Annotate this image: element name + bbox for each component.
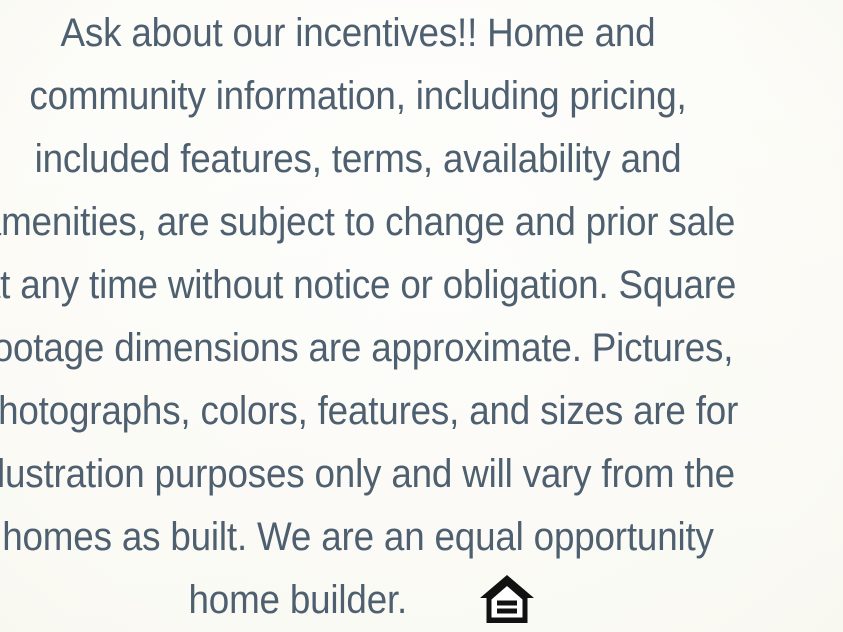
last-line-row: home builder. EQUAL HOUSING OPPORTUNITY [0,569,843,632]
equal-housing-opportunity-logo: EQUAL HOUSING OPPORTUNITY [478,573,536,632]
disclaimer-line-5: at any time without notice or obligation… [0,254,843,317]
disclaimer-line-10: home builder. [188,569,407,632]
disclaimer-text-block: Ask about our incentives!! Home and comm… [0,0,843,632]
disclaimer-line-2: community information, including pricing… [0,65,843,128]
disclaimer-line-8: illustration purposes only and will vary… [0,443,843,506]
disclaimer-line-9: homes as built. We are an equal opportun… [0,506,843,569]
house-equal-sign-icon [478,573,536,632]
disclaimer-line-4: amenities, are subject to change and pri… [0,191,843,254]
disclaimer-line-7: photographs, colors, features, and sizes… [0,380,843,443]
disclaimer-line-1: Ask about our incentives!! Home and [0,2,843,65]
disclaimer-slide: Ask about our incentives!! Home and comm… [0,0,843,632]
disclaimer-line-6: footage dimensions are approximate. Pict… [0,317,843,380]
disclaimer-line-3: included features, terms, availability a… [0,128,843,191]
